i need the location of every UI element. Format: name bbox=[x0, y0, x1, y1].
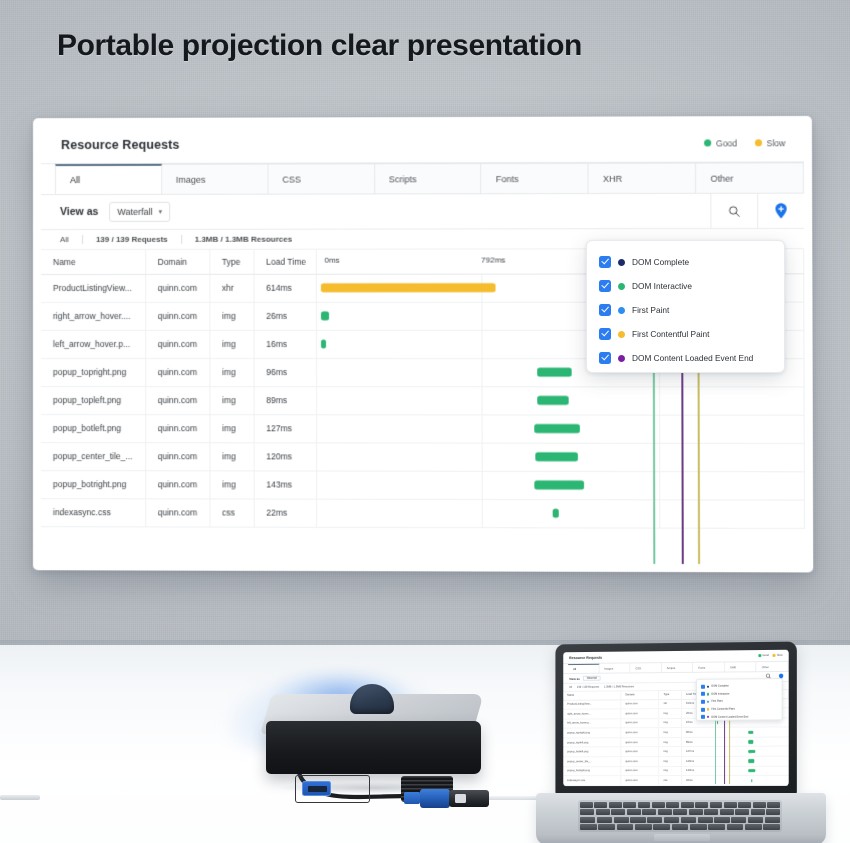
keyboard-key bbox=[611, 809, 625, 815]
keyboard-key bbox=[767, 802, 780, 808]
keyboard-key bbox=[638, 802, 651, 808]
mini-slow-dot-icon bbox=[773, 654, 776, 657]
keyboard-row bbox=[580, 802, 780, 808]
mini-popover-label: DOM Complete bbox=[711, 685, 728, 688]
cell-load-time: 16ms bbox=[254, 330, 316, 358]
cell-waterfall bbox=[316, 471, 804, 500]
column-header-name[interactable]: Name bbox=[41, 250, 145, 274]
laptop-screen: Resource Requests Good Slow All Images C… bbox=[563, 650, 788, 786]
add-marker-icon bbox=[774, 203, 787, 219]
cell-type: img bbox=[209, 442, 253, 470]
timeline-markers-popover[interactable]: DOM Complete DOM Interactive First Paint… bbox=[586, 240, 785, 373]
cell-type: img bbox=[209, 414, 253, 442]
waterfall-bar bbox=[534, 480, 584, 489]
mini-table-row: indexasync.cssquinn.comcss22ms bbox=[563, 776, 788, 786]
cell-domain: quinn.com bbox=[145, 470, 209, 498]
keyboard-key bbox=[673, 809, 687, 815]
filter-tabs: All Images CSS Scripts Fonts XHR Other bbox=[41, 162, 804, 195]
cell-name: right_arrow_hover.... bbox=[41, 302, 145, 330]
table-row[interactable]: popup_center_tile_...quinn.comimg120ms bbox=[41, 442, 804, 471]
cell-domain: quinn.com bbox=[145, 414, 209, 442]
keyboard-key bbox=[714, 817, 729, 823]
dom-content-loaded-dot-icon bbox=[618, 355, 625, 362]
mini-view-as-value: Waterfall bbox=[583, 676, 601, 681]
mini-timeline-markers-popover: DOM CompleteDOM InteractiveFirst PaintFi… bbox=[696, 678, 783, 721]
mini-view-as-label: View as bbox=[569, 676, 580, 680]
power-wire bbox=[0, 795, 40, 800]
cell-name: popup_botright.png bbox=[41, 470, 145, 498]
keyboard-row bbox=[580, 809, 780, 815]
mini-marker-dot-icon bbox=[707, 701, 709, 703]
keyboard-key bbox=[652, 802, 665, 808]
keyboard-key bbox=[766, 809, 780, 815]
tick-792ms: 792ms bbox=[481, 256, 505, 265]
cell-waterfall bbox=[316, 414, 804, 443]
view-as-label: View as bbox=[60, 206, 98, 218]
chevron-down-icon: ▾ bbox=[159, 208, 163, 216]
keyboard-key bbox=[745, 824, 762, 830]
keyboard-key bbox=[647, 817, 662, 823]
cell-name: popup_botleft.png bbox=[41, 414, 145, 442]
tab-label: Other bbox=[710, 173, 733, 183]
good-dot-icon bbox=[704, 139, 711, 146]
keyboard-key bbox=[597, 817, 612, 823]
popover-item-first-contentful-paint[interactable]: First Contentful Paint bbox=[599, 322, 784, 346]
popover-item-first-paint[interactable]: First Paint bbox=[599, 298, 784, 322]
mini-popover-item: DOM Content Loaded Event End bbox=[701, 713, 782, 721]
waterfall-bar bbox=[537, 368, 571, 377]
dom-complete-dot-icon bbox=[618, 259, 625, 266]
mini-table-row: popup_center_tile_...quinn.comimg120ms bbox=[563, 756, 788, 766]
summary-divider bbox=[181, 235, 182, 244]
summary-divider bbox=[82, 235, 83, 244]
cell-type: css bbox=[209, 498, 253, 526]
waterfall-bar bbox=[552, 509, 558, 518]
column-header-type[interactable]: Type bbox=[209, 250, 253, 274]
tab-label: Images bbox=[176, 174, 206, 184]
cell-domain: quinn.com bbox=[145, 274, 209, 302]
keyboard-key bbox=[735, 809, 749, 815]
tab-label: XHR bbox=[603, 173, 622, 183]
checkbox-first-paint[interactable] bbox=[599, 304, 611, 316]
waterfall-bar bbox=[321, 339, 326, 348]
cell-name: popup_center_tile_... bbox=[41, 442, 145, 470]
cell-waterfall bbox=[316, 386, 804, 415]
mini-good-dot-icon bbox=[758, 654, 761, 657]
view-as-value: Waterfall bbox=[117, 207, 152, 217]
waterfall-bar bbox=[534, 424, 580, 433]
mini-checkbox bbox=[701, 707, 705, 711]
table-row[interactable]: popup_botleft.pngquinn.comimg127ms bbox=[41, 414, 804, 443]
keyboard-key bbox=[630, 817, 645, 823]
search-icon bbox=[728, 204, 741, 217]
keyboard-key bbox=[689, 809, 703, 815]
keyboard-key bbox=[609, 802, 622, 808]
page-title: Portable projection clear presentation bbox=[57, 29, 582, 63]
legend-item-good: Good bbox=[704, 138, 737, 148]
tab-images[interactable]: Images bbox=[162, 164, 268, 194]
tab-scripts[interactable]: Scripts bbox=[375, 163, 482, 193]
mini-marker-dot-icon bbox=[707, 693, 709, 695]
mini-table-row: popup_botright.pngquinn.comimg143ms bbox=[563, 766, 788, 776]
keyboard-key bbox=[666, 802, 679, 808]
cell-name: indexasync.css bbox=[41, 498, 145, 526]
mini-popover-label: First Contentful Paint bbox=[711, 708, 734, 711]
mini-tab-all: All bbox=[568, 664, 599, 673]
mini-column-type: Type bbox=[659, 691, 681, 699]
cell-domain: quinn.com bbox=[145, 386, 209, 414]
waterfall-bar bbox=[321, 311, 329, 320]
mini-summary-requests: 139 / 139 Requests bbox=[577, 686, 599, 689]
mini-summary-filter: All bbox=[569, 686, 572, 689]
checkbox-dom-interactive[interactable] bbox=[599, 280, 611, 292]
keyboard-key bbox=[738, 802, 751, 808]
laptop-device: Resource Requests Good Slow All Images C… bbox=[536, 643, 826, 843]
keyboard-key bbox=[672, 824, 689, 830]
keyboard-key bbox=[635, 824, 652, 830]
projector-vga-port bbox=[302, 781, 331, 796]
keyboard-key bbox=[598, 824, 615, 830]
mini-tab-fonts: Fonts bbox=[693, 662, 725, 671]
keyboard-key bbox=[763, 824, 780, 830]
laptop-trackpad bbox=[654, 834, 710, 841]
column-header-load[interactable]: Load Time bbox=[254, 250, 316, 274]
popover-label: DOM Complete bbox=[632, 257, 689, 267]
keyboard-key bbox=[708, 824, 725, 830]
cell-type: xhr bbox=[209, 274, 253, 302]
waterfall-bar bbox=[321, 283, 496, 292]
view-as-toolbar: View as Waterfall ▾ bbox=[41, 194, 804, 230]
view-as-select[interactable]: Waterfall ▾ bbox=[109, 202, 170, 222]
mini-checkbox bbox=[701, 715, 705, 719]
keyboard-row bbox=[580, 824, 780, 830]
legend-label-slow: Slow bbox=[767, 138, 786, 148]
keyboard-key bbox=[710, 802, 723, 808]
cell-load-time: 127ms bbox=[254, 414, 316, 442]
adapter-plug bbox=[404, 792, 420, 804]
keyboard-key bbox=[731, 817, 746, 823]
cell-domain: quinn.com bbox=[145, 358, 209, 386]
keyboard-key bbox=[653, 824, 670, 830]
keyboard-key bbox=[751, 809, 765, 815]
keyboard-key bbox=[614, 817, 629, 823]
summary-resources: 1.3MB / 1.3MB Resources bbox=[195, 235, 292, 244]
mini-summary-resources: 1.3MB / 1.3MB Resources bbox=[604, 685, 634, 688]
keyboard-key bbox=[753, 802, 766, 808]
slow-dot-icon bbox=[754, 139, 761, 146]
keyboard-key bbox=[681, 802, 694, 808]
cell-domain: quinn.com bbox=[145, 498, 209, 526]
waterfall-bar bbox=[535, 452, 578, 461]
keyboard-key bbox=[664, 817, 679, 823]
tab-label: Scripts bbox=[389, 174, 417, 184]
popover-item-dom-content-loaded-event-end[interactable]: DOM Content Loaded Event End bbox=[599, 346, 784, 370]
tab-label: CSS bbox=[282, 174, 301, 184]
mini-popover-label: DOM Interactive bbox=[711, 692, 729, 695]
laptop-mini-ui: Resource Requests Good Slow All Images C… bbox=[563, 650, 788, 786]
tab-css[interactable]: CSS bbox=[268, 163, 375, 193]
cell-type: img bbox=[209, 302, 253, 330]
mini-legend-label: Slow bbox=[777, 654, 783, 657]
popover-label: First Paint bbox=[632, 305, 669, 315]
keyboard-key bbox=[727, 824, 744, 830]
keyboard-key bbox=[658, 809, 672, 815]
status-legend: Good Slow bbox=[704, 138, 786, 148]
table-row[interactable]: popup_topleft.pngquinn.comimg89ms bbox=[41, 386, 804, 415]
popover-item-dom-complete[interactable]: DOM Complete bbox=[599, 250, 784, 274]
cell-domain: quinn.com bbox=[145, 442, 209, 470]
mini-tab-css: CSS bbox=[630, 663, 661, 672]
cell-waterfall bbox=[316, 499, 804, 528]
keyboard-row bbox=[580, 817, 780, 823]
keyboard-key bbox=[596, 809, 610, 815]
projector-lens bbox=[350, 684, 394, 714]
keyboard-key bbox=[724, 802, 737, 808]
tab-label: All bbox=[70, 175, 80, 185]
cell-domain: quinn.com bbox=[145, 330, 209, 358]
projector-device bbox=[258, 676, 508, 786]
summary-requests: 139 / 139 Requests bbox=[96, 235, 168, 244]
keyboard-key bbox=[765, 817, 780, 823]
mini-card-title: Resource Requests bbox=[569, 655, 602, 659]
add-marker-button[interactable] bbox=[757, 194, 804, 228]
table-row[interactable]: popup_botright.pngquinn.comimg143ms bbox=[41, 470, 804, 500]
projector-front-body bbox=[266, 721, 481, 774]
popover-label: DOM Interactive bbox=[632, 281, 692, 291]
keyboard-key bbox=[690, 824, 707, 830]
laptop-lid: Resource Requests Good Slow All Images C… bbox=[555, 642, 796, 795]
mini-tab-scripts: Scripts bbox=[662, 663, 694, 672]
mini-tab-images: Images bbox=[599, 663, 630, 672]
popover-label: First Contentful Paint bbox=[632, 329, 709, 339]
keyboard-key bbox=[594, 802, 607, 808]
cell-load-time: 614ms bbox=[254, 274, 316, 302]
adapter-vga-connector bbox=[420, 789, 450, 808]
keyboard-key bbox=[695, 802, 708, 808]
cell-load-time: 89ms bbox=[254, 386, 316, 414]
keyboard-key bbox=[748, 817, 763, 823]
tab-all[interactable]: All bbox=[55, 164, 162, 194]
checkbox-first-contentful-paint[interactable] bbox=[599, 328, 611, 340]
cell-name: popup_topleft.png bbox=[41, 386, 145, 414]
tab-label: Fonts bbox=[496, 174, 519, 184]
keyboard-key bbox=[580, 817, 595, 823]
keyboard-key bbox=[704, 809, 718, 815]
mini-tab-xhr: XHR bbox=[725, 662, 757, 671]
tick-0ms: 0ms bbox=[324, 256, 339, 265]
cell-name: ProductListingView... bbox=[41, 274, 145, 302]
popover-label: DOM Content Loaded Event End bbox=[632, 353, 753, 363]
vga-hdmi-adapter bbox=[404, 789, 500, 809]
cell-load-time: 143ms bbox=[254, 470, 316, 498]
cell-load-time: 120ms bbox=[254, 442, 316, 470]
column-header-domain[interactable]: Domain bbox=[145, 250, 209, 274]
card-header: Resource Requests Good Slow bbox=[41, 124, 804, 164]
mini-tab-other: Other bbox=[757, 662, 789, 671]
laptop-keyboard bbox=[578, 800, 782, 832]
legend-label-good: Good bbox=[716, 138, 737, 148]
legend-item-slow: Slow bbox=[754, 138, 785, 148]
keyboard-key bbox=[623, 802, 636, 808]
keyboard-key bbox=[681, 817, 696, 823]
cell-type: img bbox=[209, 358, 253, 386]
mini-marker-dot-icon bbox=[707, 708, 709, 710]
mini-checkbox bbox=[701, 692, 705, 696]
cell-domain: quinn.com bbox=[145, 302, 209, 330]
mini-popover-label: DOM Content Loaded Event End bbox=[711, 715, 748, 718]
mini-legend-good: Good bbox=[758, 654, 768, 657]
mini-legend-slow: Slow bbox=[773, 654, 783, 657]
mini-popover-label: First Paint bbox=[711, 700, 722, 703]
cell-name: popup_topright.png bbox=[41, 358, 145, 386]
checkbox-dom-complete[interactable] bbox=[599, 256, 611, 268]
keyboard-key bbox=[720, 809, 734, 815]
tab-xhr[interactable]: XHR bbox=[589, 163, 696, 193]
waterfall-bar bbox=[537, 396, 569, 405]
cell-name: left_arrow_hover.p... bbox=[41, 330, 145, 358]
checkbox-dom-content-loaded-event-end[interactable] bbox=[599, 352, 611, 364]
tab-other[interactable]: Other bbox=[696, 162, 804, 192]
tab-fonts[interactable]: Fonts bbox=[482, 163, 589, 193]
keyboard-key bbox=[617, 824, 634, 830]
cell-waterfall bbox=[316, 442, 804, 471]
mini-checkbox bbox=[701, 685, 705, 689]
cell-type: img bbox=[209, 470, 253, 498]
cell-load-time: 26ms bbox=[254, 302, 316, 330]
keyboard-key bbox=[627, 809, 641, 815]
summary-filter: All bbox=[60, 235, 69, 244]
keyboard-key bbox=[580, 809, 594, 815]
mini-marker-dot-icon bbox=[707, 685, 709, 687]
mini-marker-dot-icon bbox=[707, 716, 709, 718]
keyboard-key bbox=[580, 802, 593, 808]
cell-load-time: 22ms bbox=[254, 499, 316, 527]
cell-type: img bbox=[209, 386, 253, 414]
popover-item-dom-interactive[interactable]: DOM Interactive bbox=[599, 274, 784, 298]
table-row[interactable]: indexasync.cssquinn.comcss22ms bbox=[41, 498, 804, 528]
card-title: Resource Requests bbox=[61, 137, 180, 151]
dom-interactive-dot-icon bbox=[618, 283, 625, 290]
cell-load-time: 96ms bbox=[254, 358, 316, 386]
search-button[interactable] bbox=[710, 194, 757, 228]
cell-type: img bbox=[209, 330, 253, 358]
mini-legend-label: Good bbox=[762, 654, 768, 657]
first-paint-dot-icon bbox=[618, 307, 625, 314]
keyboard-key bbox=[642, 809, 656, 815]
keyboard-key bbox=[580, 824, 597, 830]
mini-checkbox bbox=[701, 700, 705, 704]
first-contentful-paint-dot-icon bbox=[618, 331, 625, 338]
adapter-body bbox=[449, 790, 489, 807]
keyboard-key bbox=[698, 817, 713, 823]
